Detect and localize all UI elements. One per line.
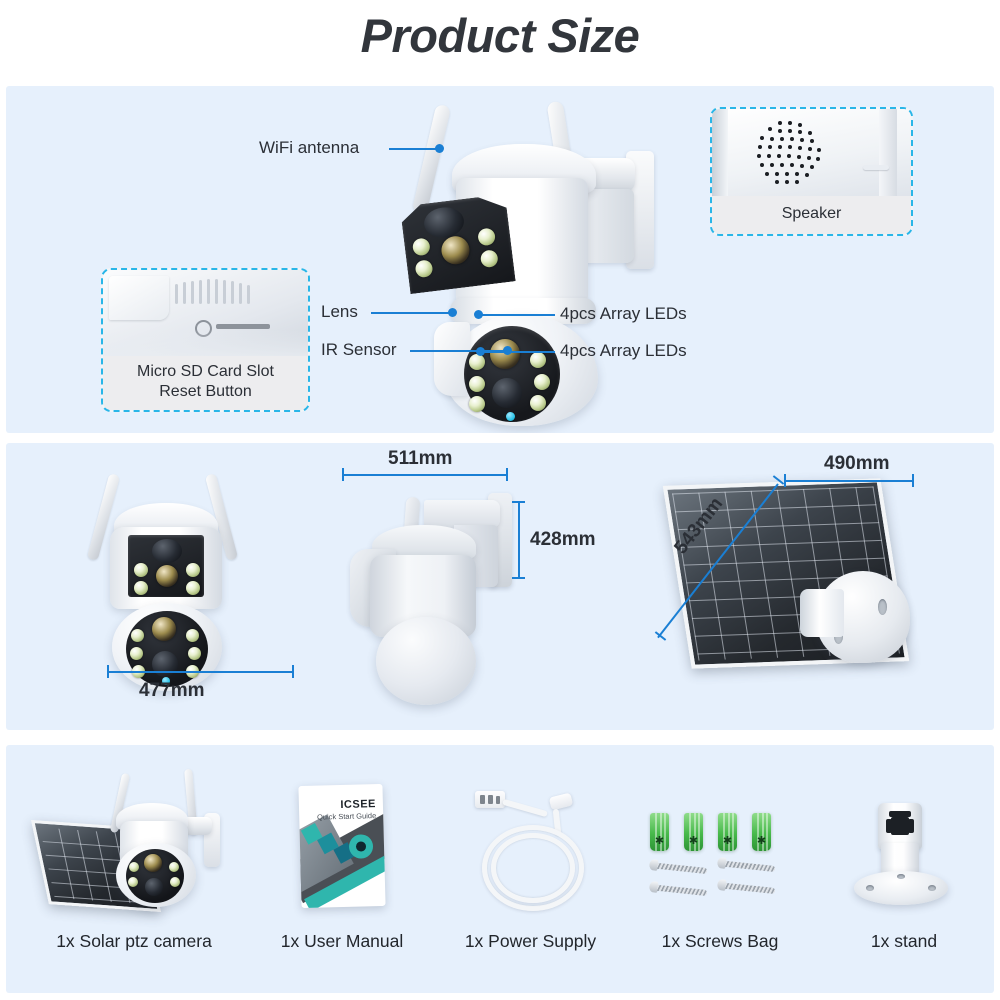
wall-anchor-icon: ✱: [718, 813, 737, 851]
package-item-screws-bag: ✱ ✱ ✱ ✱: [642, 767, 802, 917]
callout-box-sd-card: Micro SD Card Slot Reset Button: [101, 268, 310, 412]
callout-label-wifi-antenna: WiFi antenna: [259, 138, 359, 158]
camera-dome: [376, 617, 476, 705]
manual-subtitle: Quick Start Guide: [317, 811, 376, 822]
stand-base: [854, 871, 948, 905]
callout-label-ir-sensor: IR Sensor: [321, 340, 397, 360]
dimension-line-511mm: [342, 474, 508, 476]
camera-side-view: [336, 475, 576, 705]
callout-caption-speaker: Speaker: [712, 196, 911, 234]
usb-a-connector-icon: [475, 791, 505, 808]
callout-label-array-leds-top: 4pcs Array LEDs: [560, 304, 687, 324]
leader-line-wifi-antenna: [389, 148, 441, 150]
package-item-label: 1x Solar ptz camera: [14, 931, 254, 952]
dimension-tick-left: [784, 474, 786, 487]
upper-lens-module: [398, 182, 515, 294]
dimensions-panel: 477mm 511mm 428mm: [6, 443, 994, 730]
manual-cover: ICSEE Quick Start Guide: [298, 784, 385, 908]
dimension-tick-right: [912, 474, 914, 487]
callout-label-array-leds-bottom: 4pcs Array LEDs: [560, 341, 687, 361]
wall-anchor-icon: ✱: [684, 813, 703, 851]
camera-front-view: [66, 461, 286, 676]
package-item-solar-ptz-camera: 1x Solar ptz camera: [24, 767, 244, 917]
wall-anchor-icon: ✱: [650, 813, 669, 851]
speaker-grille-icon: [756, 121, 822, 187]
cable-segment-upper: [502, 799, 548, 817]
dimension-line-428mm: [518, 501, 520, 579]
dimension-tick-left: [107, 665, 109, 678]
dimension-text-490mm: 490mm: [824, 453, 890, 475]
solar-mount-neck: [800, 589, 844, 637]
main-camera-illustration: [306, 86, 706, 433]
package-contents-panel: 1x Solar ptz camera ICSEE Quick Start Gu…: [6, 745, 994, 993]
speaker-photo: [712, 109, 911, 199]
leader-dot-wifi-antenna: [435, 144, 444, 153]
dimension-tick-right: [506, 468, 508, 481]
manual-brand: ICSEE: [340, 798, 376, 811]
dimension-text-428mm: 428mm: [530, 529, 596, 551]
package-item-label: 1x User Manual: [242, 931, 442, 952]
package-item-user-manual: ICSEE Quick Start Guide 1x User Manual: [272, 767, 412, 917]
package-item-stand: 1x stand: [834, 767, 974, 917]
status-led-icon: [506, 412, 515, 421]
dimension-tick-bottom: [512, 577, 525, 579]
package-item-label: 1x Screws Bag: [620, 931, 820, 952]
dimension-tick-top: [512, 501, 525, 503]
dimension-line-477mm: [107, 671, 294, 673]
package-item-label: 1x Power Supply: [433, 931, 628, 952]
dimension-text-477mm: 477mm: [139, 680, 205, 702]
leader-dot-lens: [448, 308, 457, 317]
leader-line-lens: [371, 312, 452, 314]
wall-mount-arm: [424, 500, 500, 528]
lower-lens-face: [126, 611, 208, 687]
micro-sd-slot-icon: [216, 324, 270, 329]
detail-panel: WiFi antenna Lens IR Sensor 4pcs Array L…: [6, 86, 994, 433]
package-item-label: 1x stand: [814, 931, 994, 952]
leader-line-array-leds-top: [481, 314, 555, 316]
lower-lens-face: [126, 849, 184, 903]
leader-dot-array-leds-bottom: [476, 347, 485, 356]
sd-slot-photo: [103, 270, 308, 362]
callout-caption-line1: Micro SD Card Slot: [103, 362, 308, 382]
page-title: Product Size: [0, 8, 1000, 63]
callout-box-speaker: Speaker: [710, 107, 913, 236]
upper-lens-plate: [128, 535, 204, 597]
package-item-power-supply: 1x Power Supply: [458, 767, 603, 917]
leader-dot-array-leds-top: [474, 310, 483, 319]
cable-coil-inner: [491, 833, 575, 903]
leader-line-array-leds-bottom: [484, 351, 555, 353]
vent-slots-icon: [175, 278, 255, 306]
wall-anchor-icon: ✱: [752, 813, 771, 851]
dimension-line-490mm: [784, 480, 914, 482]
usb-c-connector-icon: [549, 793, 573, 811]
callout-label-lens: Lens: [321, 302, 358, 322]
product-size-infographic: Product Size: [0, 0, 1000, 1000]
callout-caption-sd-card: Micro SD Card Slot Reset Button: [103, 356, 308, 410]
callout-caption-line2: Reset Button: [103, 382, 308, 402]
dimension-tick-left: [342, 468, 344, 481]
dimension-text-511mm: 511mm: [388, 448, 452, 470]
dimension-tick-right: [292, 665, 294, 678]
lower-lens-face: [464, 326, 560, 422]
